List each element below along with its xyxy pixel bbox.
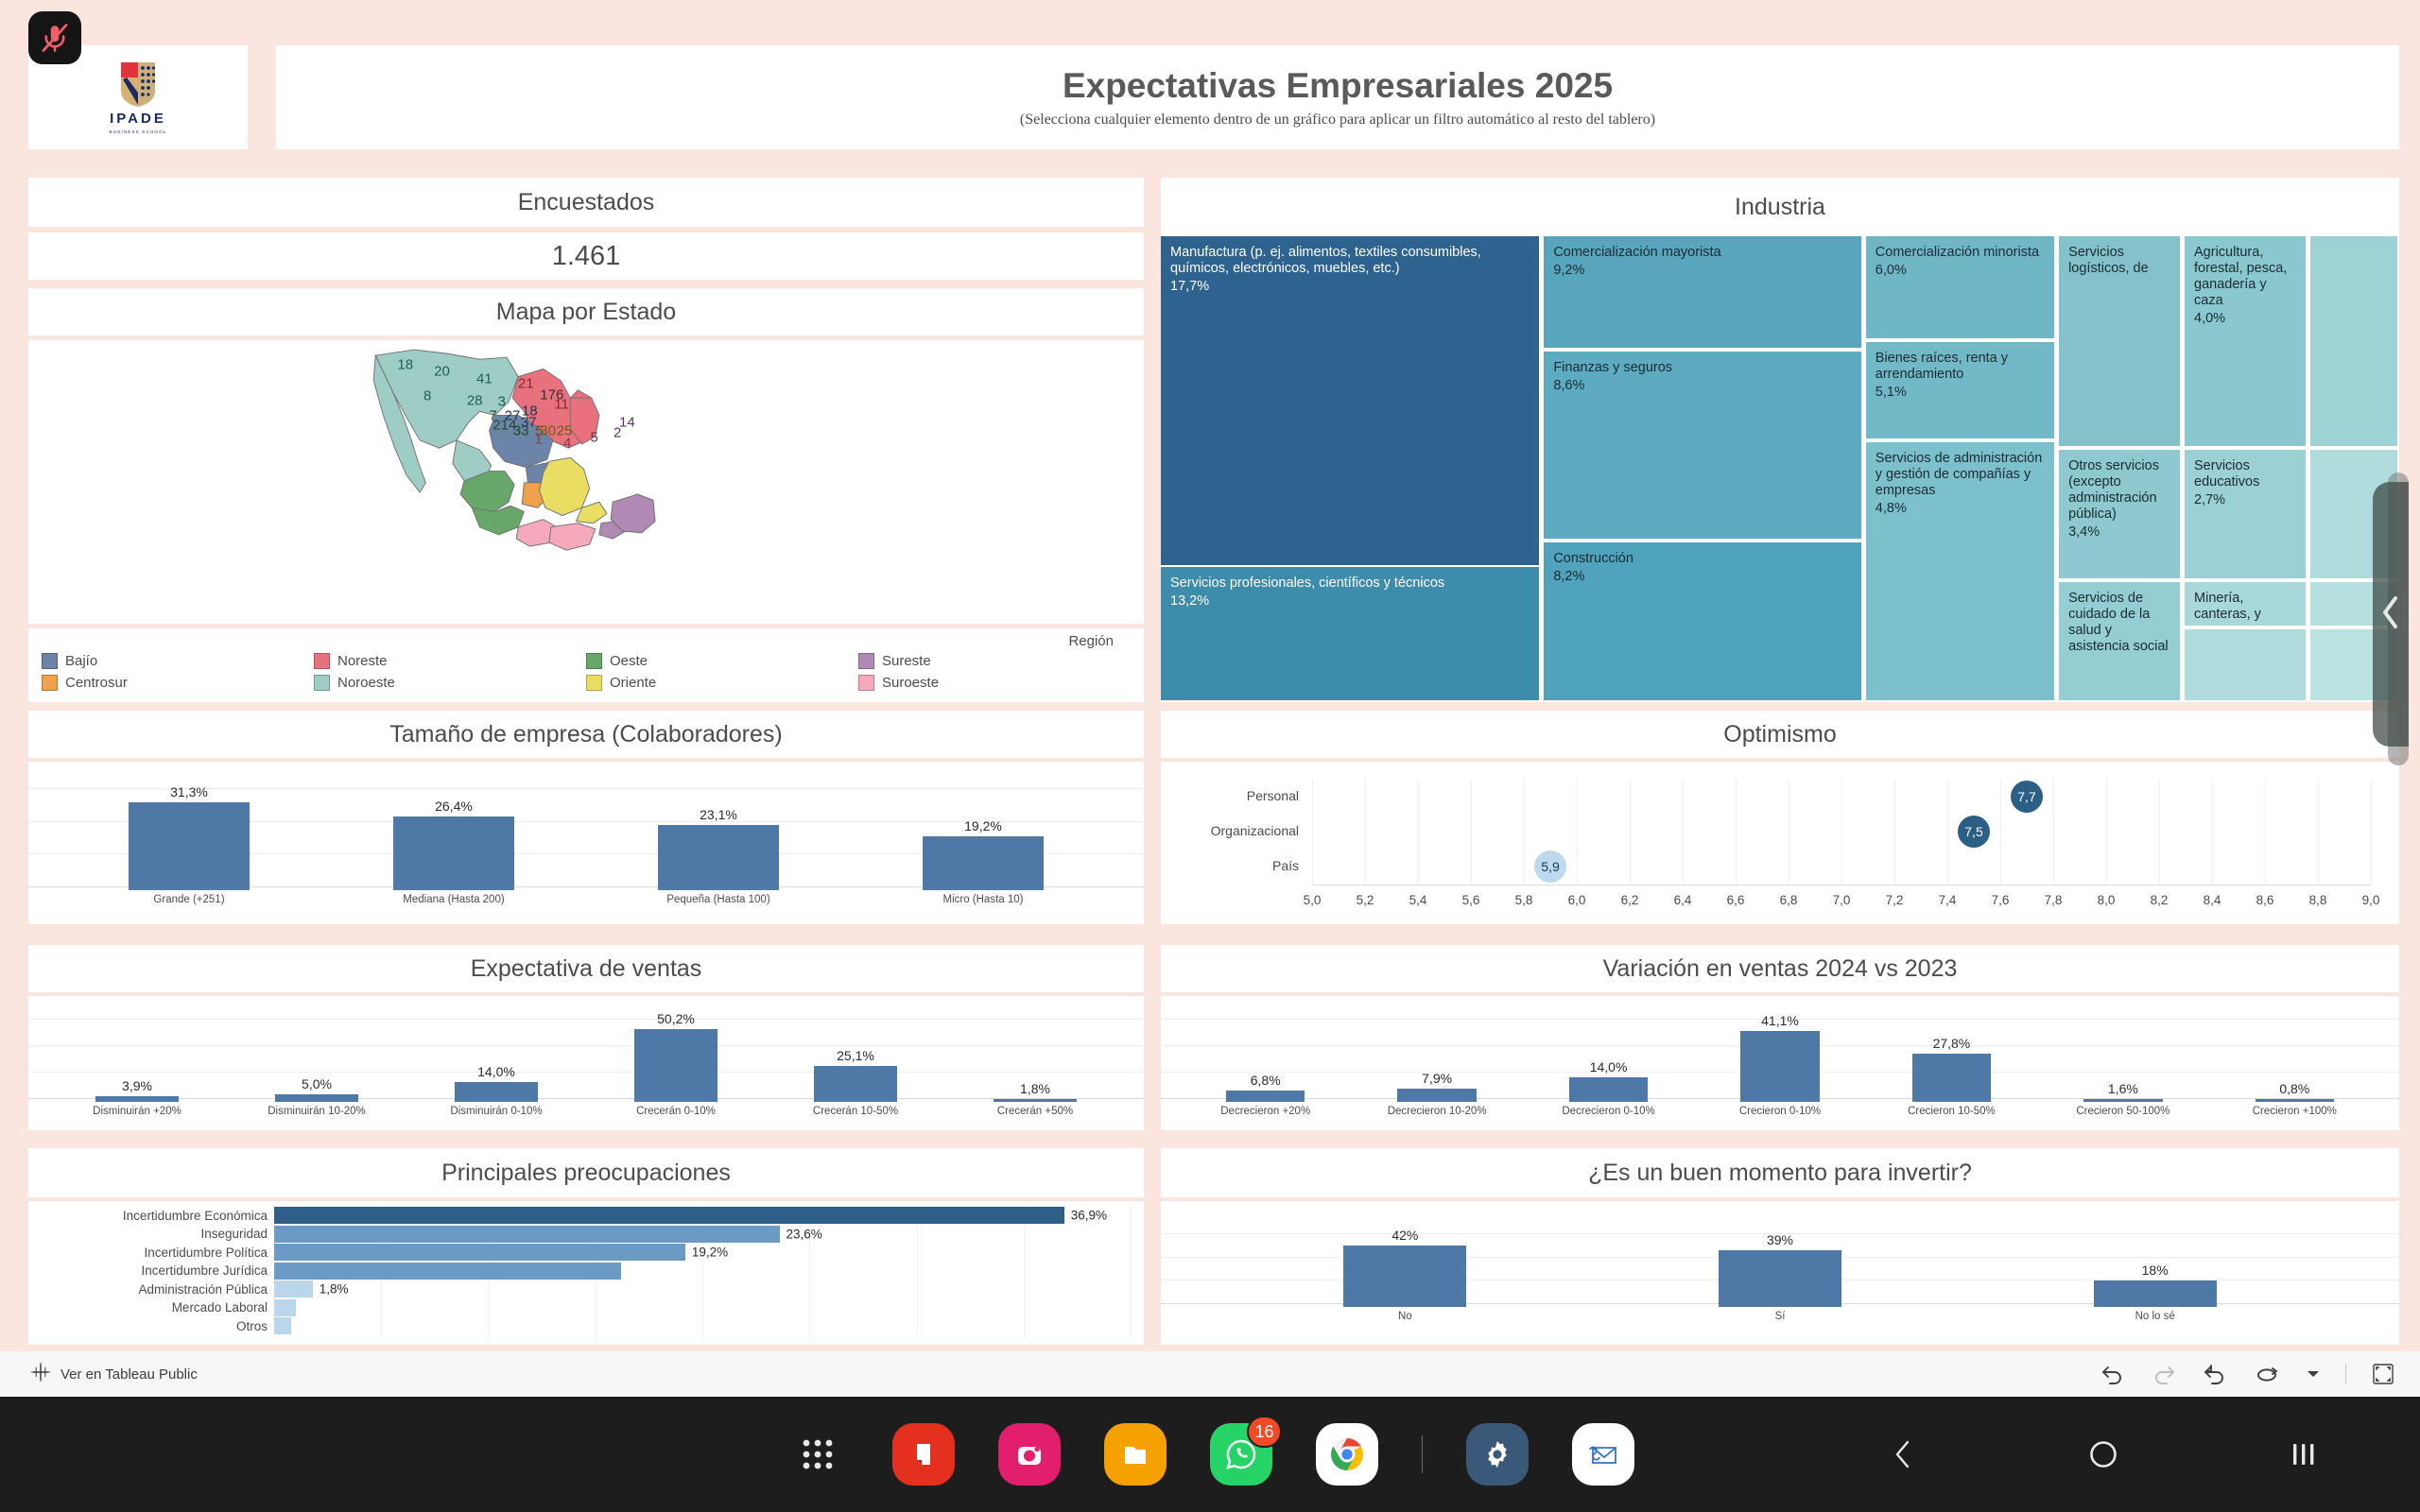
treemap-tile[interactable]: Servicios profesionales, científicos y t…: [1161, 567, 1541, 702]
map-state-value: 33: [513, 422, 529, 438]
treemap-tile[interactable]: Otros servicios (excepto administración …: [2059, 450, 2182, 580]
gridline: [1947, 779, 1948, 885]
legend-label: Oriente: [610, 675, 656, 691]
legend-item-centrosur[interactable]: Centrosur: [42, 675, 314, 691]
treemap-tile[interactable]: Bienes raíces, renta y arrendamiento5,1%: [1866, 342, 2056, 440]
bar-column[interactable]: 7,9%Decrecieron 10-20%: [1397, 1071, 1476, 1117]
gridline: [1630, 779, 1631, 885]
bar-value-label: 19,2%: [964, 818, 1002, 833]
page-title: Expectativas Empresariales 2025: [1063, 66, 1613, 106]
bar-category-label: Pequeña (Hasta 100): [666, 894, 769, 905]
bar-column[interactable]: 39%Sí: [1719, 1232, 1841, 1322]
preocupacion-label: Inseguridad: [28, 1227, 274, 1241]
x-axis-tick: 8,4: [2204, 893, 2221, 907]
optimismo-dot-chart[interactable]: 5,05,25,45,65,86,06,26,46,66,87,07,27,47…: [1161, 762, 2399, 924]
treemap-tile[interactable]: Comercialización mayorista9,2%: [1544, 236, 1862, 350]
treemap-tile-label: Agricultura, forestal, pesca, ganadería …: [2194, 245, 2287, 308]
legend-item-sureste[interactable]: Sureste: [858, 653, 1131, 669]
bar-value-label: 19,2%: [692, 1246, 728, 1260]
preocupacion-row[interactable]: Mercado Laboral: [28, 1299, 1131, 1316]
treemap-tile-value: 9,2%: [1553, 263, 1851, 279]
dock-divider: [1422, 1435, 1423, 1473]
files-app-icon[interactable]: [1104, 1423, 1167, 1486]
legend-item-suroeste[interactable]: Suroeste: [858, 675, 1131, 691]
view-on-tableau-public-link[interactable]: Ver en Tableau Public: [30, 1362, 198, 1386]
mexico-map[interactable]: 1820418283211761118273772143353025145214: [28, 340, 1144, 624]
treemap-tile-small[interactable]: [2310, 236, 2399, 448]
map-state-value: 20: [434, 364, 450, 380]
optimismo-panel-title: Optimismo: [1161, 711, 2399, 758]
bar-column[interactable]: 31,3%Grande (+251): [129, 784, 251, 905]
bar-rect[interactable]: [1397, 1089, 1476, 1102]
gridline: [1471, 779, 1472, 885]
preocupacion-label: Mercado Laboral: [28, 1300, 274, 1314]
x-axis-tick: 8,8: [2309, 893, 2327, 907]
treemap-tile[interactable]: Servicios educativos2,7%: [2185, 450, 2308, 580]
map-state-value: 11: [554, 397, 569, 413]
android-navigation-bar: 16: [0, 1397, 2420, 1512]
preocupacion-label: Incertidumbre Jurídica: [28, 1263, 274, 1278]
x-axis-tick: 6,6: [1727, 893, 1745, 907]
bar-column[interactable]: 19,2%Micro (Hasta 10): [923, 818, 1045, 905]
bar-column[interactable]: 14,0%Disminuirán 0-10%: [455, 1064, 537, 1117]
gridline: [1683, 779, 1684, 885]
map-state-value: 8: [423, 387, 431, 404]
bar-value-label: 50,2%: [657, 1011, 695, 1026]
expectativa-bar-chart[interactable]: 3,9%Disminuirán +20%5,0%Disminuirán 10-2…: [28, 996, 1144, 1130]
treemap-tile-label: Otros servicios (excepto administración …: [2068, 458, 2159, 522]
bar-rect[interactable]: [1719, 1250, 1841, 1307]
treemap-tile[interactable]: Servicios logísticos, de: [2059, 236, 2182, 448]
preocupacion-label: Incertidumbre Económica: [28, 1209, 274, 1223]
reader-app-icon[interactable]: [892, 1423, 955, 1486]
title-card: Expectativas Empresariales 2025 (Selecci…: [276, 45, 2399, 149]
whatsapp-icon[interactable]: 16: [1210, 1423, 1272, 1486]
bar-rect[interactable]: [455, 1082, 537, 1102]
gridline: [2106, 779, 2107, 885]
legend-swatch: [42, 653, 58, 669]
legend-item-noroeste[interactable]: Noroeste: [314, 675, 586, 691]
bar-rect[interactable]: [274, 1207, 1064, 1224]
bar-column[interactable]: 18%No lo sé: [2094, 1263, 2217, 1322]
bar-rect[interactable]: [1569, 1077, 1648, 1102]
bar-rect[interactable]: [275, 1094, 357, 1102]
bar-category-label: Crecieron 50-100%: [2076, 1106, 2169, 1117]
dashboard-screen: IPADE BUSINESS SCHOOL Expectativas Empre…: [0, 0, 2420, 1512]
gridline: [2318, 779, 2319, 885]
x-axis-tick: 6,8: [1780, 893, 1798, 907]
bar-category-label: Crecerán +50%: [997, 1106, 1073, 1117]
x-axis-tick: 5,0: [1304, 893, 1322, 907]
right-edge-strip: [2409, 170, 2420, 1351]
x-axis-tick: 7,4: [1939, 893, 1957, 907]
panel-collapse-handle[interactable]: [2373, 482, 2409, 747]
treemap-tile-label: Manufactura (p. ej. alimentos, textiles …: [1170, 245, 1481, 276]
preocupacion-label: Administración Pública: [28, 1282, 274, 1297]
chevron-down-icon[interactable]: [2306, 1368, 2321, 1380]
x-axis: [28, 1098, 1144, 1099]
treemap-tile-value: 8,6%: [1553, 378, 1851, 394]
gridline: [28, 1072, 1144, 1073]
x-axis-tick: 7,6: [1992, 893, 2010, 907]
x-axis-tick: 6,4: [1674, 893, 1692, 907]
treemap-tile[interactable]: Finanzas y seguros8,6%: [1544, 352, 1862, 541]
variacion-panel-title: Variación en ventas 2024 vs 2023: [1161, 945, 2399, 992]
legend-label: Sureste: [882, 653, 931, 669]
bar-track: [274, 1263, 1131, 1280]
map-state-value: 28: [467, 393, 483, 409]
treemap-tile-label: Comercialización minorista: [1875, 245, 2039, 260]
app-drawer-icon[interactable]: [786, 1423, 849, 1486]
gridline: [1365, 779, 1366, 885]
x-axis-tick: 6,0: [1568, 893, 1586, 907]
bar-value-label: 6,8%: [1251, 1073, 1281, 1088]
bar-category-label: Crecieron 0-10%: [1739, 1106, 1821, 1117]
bar-column[interactable]: 5,0%Disminuirán 10-20%: [275, 1076, 357, 1117]
legend-swatch: [858, 653, 874, 669]
bar-rect[interactable]: [994, 1099, 1076, 1102]
bar-category-label: Decrecieron 0-10%: [1562, 1106, 1654, 1117]
bar-value-label: 23,1%: [700, 807, 737, 822]
ipade-shield-icon: [119, 60, 157, 108]
bar-track: [274, 1317, 1131, 1334]
map-state-value: 18: [397, 357, 413, 373]
preocupacion-row[interactable]: Inseguridad23,6%: [28, 1226, 1131, 1243]
map-state-value: 1: [534, 431, 542, 447]
invertir-bar-chart[interactable]: 42%No39%Sí18%No lo sé: [1161, 1201, 2399, 1345]
treemap-tile[interactable]: Comercialización minorista6,0%: [1866, 236, 2056, 340]
undo-icon[interactable]: [2100, 1363, 2126, 1385]
legend-swatch: [858, 675, 874, 691]
recents-nav-icon[interactable]: [2282, 1433, 2325, 1476]
legend-item-oriente[interactable]: Oriente: [586, 675, 858, 691]
bar-category-label: No: [1398, 1311, 1412, 1322]
treemap-tile[interactable]: Servicios de administración y gestión de…: [1866, 442, 2056, 702]
bar-track: 19,2%: [274, 1244, 1131, 1261]
x-axis-tick: 7,0: [1833, 893, 1851, 907]
revert-icon[interactable]: [2202, 1363, 2228, 1385]
bar-value-label: 41,1%: [1761, 1013, 1799, 1028]
legend-label: Bajío: [65, 653, 97, 669]
x-axis-tick: 5,4: [1409, 893, 1427, 907]
bar-value-label: 36,9%: [1071, 1209, 1107, 1223]
treemap-tile[interactable]: Agricultura, forestal, pesca, ganadería …: [2185, 236, 2308, 448]
bar-column[interactable]: 42%No: [1343, 1228, 1466, 1322]
treemap-tile-value: 3,4%: [2068, 524, 2170, 541]
treemap-tile-label: Finanzas y seguros: [1553, 360, 1672, 375]
bar-rect[interactable]: [1343, 1246, 1466, 1307]
bar-rect[interactable]: [658, 825, 780, 890]
page-subtitle: (Selecciona cualquier elemento dentro de…: [1020, 112, 1655, 129]
bar-category-label: Sí: [1775, 1311, 1786, 1322]
treemap-tile-label: Servicios de administración y gestión de…: [1875, 451, 2043, 498]
preocupacion-row[interactable]: Administración Pública1,8%: [28, 1280, 1131, 1297]
home-nav-icon[interactable]: [2082, 1433, 2125, 1476]
preocupacion-label: Otros: [28, 1319, 274, 1333]
bar-column[interactable]: 1,8%Crecerán +50%: [994, 1081, 1076, 1117]
x-axis-tick: 9,0: [2362, 893, 2380, 907]
treemap-tile-value: 17,7%: [1170, 279, 1530, 295]
bar-value-label: 27,8%: [1933, 1036, 1971, 1051]
treemap-tile-label: Servicios profesionales, científicos y t…: [1170, 576, 1444, 591]
tamano-bar-chart[interactable]: 31,3%Grande (+251)26,4%Mediana (Hasta 20…: [28, 762, 1144, 924]
bar-value-label: 1,8%: [320, 1282, 349, 1297]
bar-column[interactable]: 41,1%Crecieron 0-10%: [1740, 1013, 1819, 1117]
microphone-muted-icon[interactable]: [28, 11, 81, 64]
x-axis: [1312, 885, 2371, 885]
bar-category-label: Micro (Hasta 10): [942, 894, 1023, 905]
treemap-tile-value: 2,7%: [2194, 492, 2296, 508]
map-state-value: 5: [591, 429, 598, 445]
map-legend: Región BajíoNoresteOesteSuresteCentrosur…: [28, 628, 1144, 702]
bar-value-label: 7,9%: [1422, 1071, 1452, 1086]
optimismo-row-label: País: [1161, 858, 1299, 873]
bar-rect[interactable]: [1740, 1031, 1819, 1102]
preocupacion-row[interactable]: Incertidumbre Económica36,9%: [28, 1207, 1131, 1224]
bar-category-label: Crecieron 10-50%: [1908, 1106, 1996, 1117]
back-nav-icon[interactable]: [1881, 1433, 1925, 1476]
bar-column[interactable]: 1,6%Crecieron 50-100%: [2083, 1081, 2162, 1117]
bar-category-label: Decrecieron 10-20%: [1388, 1106, 1487, 1117]
legend-swatch: [314, 675, 330, 691]
gridline: [2159, 779, 2160, 885]
bar-rect[interactable]: [274, 1299, 296, 1316]
optimismo-dot[interactable]: 7,7: [2011, 781, 2043, 813]
preocupaciones-panel-title: Principales preocupaciones: [28, 1148, 1144, 1197]
gridline: [1894, 779, 1895, 885]
gridline: [1131, 1205, 1132, 1341]
gridline: [2212, 779, 2213, 885]
bar-column[interactable]: 6,8%Decrecieron +20%: [1226, 1073, 1305, 1117]
x-axis-tick: 6,2: [1621, 893, 1639, 907]
bar-category-label: Mediana (Hasta 200): [403, 894, 504, 905]
encuestados-value: 1.461: [28, 232, 1144, 280]
bar-category-label: Decrecieron +20%: [1220, 1106, 1310, 1117]
legend-label: Noroeste: [337, 675, 395, 691]
legend-label: Suroeste: [882, 675, 939, 691]
bar-value-label: 26,4%: [435, 799, 473, 814]
treemap-tile-value: 8,2%: [1553, 569, 1851, 585]
bar-rect[interactable]: [274, 1280, 313, 1297]
map-state-value: 30: [540, 422, 556, 438]
preocupacion-label: Incertidumbre Política: [28, 1246, 274, 1260]
legend-label: Oeste: [610, 653, 648, 669]
bar-track: [274, 1299, 1131, 1316]
bar-category-label: Grande (+251): [153, 894, 224, 905]
treemap-tile-value: 4,0%: [2194, 311, 2296, 327]
gridline: [1789, 779, 1789, 885]
legend-heading: Región: [42, 633, 1131, 649]
bar-rect[interactable]: [274, 1244, 685, 1261]
viz-tool-icons: [2100, 1362, 2395, 1386]
optimismo-dot[interactable]: 5,9: [1534, 850, 1566, 883]
gridline: [28, 1045, 1144, 1046]
legend-swatch: [314, 653, 330, 669]
gridline: [1577, 779, 1578, 885]
treemap-tile-value: 5,1%: [1875, 385, 2045, 401]
gridline: [28, 1019, 1144, 1020]
industria-treemap[interactable]: Manufactura (p. ej. alimentos, textiles …: [1161, 236, 2399, 702]
preocupacion-row[interactable]: Incertidumbre Política19,2%: [28, 1244, 1131, 1261]
tableau-icon: [30, 1362, 51, 1386]
bar-category-label: Crecerán 0-10%: [636, 1106, 716, 1117]
bar-column[interactable]: 3,9%Disminuirán +20%: [95, 1078, 178, 1117]
map-state-value: 41: [476, 370, 493, 387]
gridline: [2053, 779, 2054, 885]
treemap-tile-label: Servicios de cuidado de la salud y asist…: [2068, 591, 2169, 654]
bar-category-label: Disminuirán +20%: [93, 1106, 181, 1117]
map-state-value: 21: [518, 375, 534, 391]
preocupacion-row[interactable]: Incertidumbre Jurídica: [28, 1263, 1131, 1280]
whatsapp-badge: 16: [1247, 1416, 1281, 1448]
bar-category-label: Disminuirán 10-20%: [268, 1106, 366, 1117]
bar-rect[interactable]: [274, 1317, 291, 1334]
treemap-tile-small[interactable]: [2185, 629, 2308, 702]
redo-icon[interactable]: [2151, 1363, 2177, 1385]
refresh-icon[interactable]: [2253, 1363, 2281, 1385]
bar-rect[interactable]: [1226, 1091, 1305, 1102]
x-axis-tick: 5,8: [1515, 893, 1533, 907]
bar-value-label: 1,8%: [1020, 1081, 1050, 1096]
bar-column[interactable]: 0,8%Crecieron +100%: [2256, 1081, 2334, 1117]
bar-value-label: 3,9%: [122, 1078, 152, 1093]
bar-value-label: 25,1%: [837, 1048, 874, 1063]
legend-label: Centrosur: [65, 675, 128, 691]
treemap-tile[interactable]: Minería, canteras, y: [2185, 582, 2308, 627]
mapa-panel-title: Mapa por Estado: [28, 288, 1144, 335]
tamano-panel-title: Tamaño de empresa (Colaboradores): [28, 711, 1144, 758]
tableau-viz-toolbar: Ver en Tableau Public: [0, 1351, 2420, 1397]
dashboard-header: IPADE BUSINESS SCHOOL Expectativas Empre…: [0, 0, 2420, 170]
x-axis-tick: 8,2: [2151, 893, 2169, 907]
gridline: [2265, 779, 2266, 885]
bar-category-label: Crecerán 10-50%: [813, 1106, 898, 1117]
gridline: [2000, 779, 2001, 885]
legend-label: Noreste: [337, 653, 388, 669]
camera-app-icon[interactable]: [998, 1423, 1061, 1486]
legend-items[interactable]: BajíoNoresteOesteSuresteCentrosurNoroest…: [42, 653, 1131, 691]
legend-item-noreste[interactable]: Noreste: [314, 653, 586, 669]
bar-column[interactable]: 50,2%Crecerán 0-10%: [634, 1011, 717, 1117]
bar-value-label: 14,0%: [1590, 1059, 1628, 1074]
x-axis-tick: 5,2: [1357, 893, 1374, 907]
bar-value-label: 5,0%: [302, 1076, 332, 1091]
treemap-tile-value: 13,2%: [1170, 593, 1530, 610]
legend-swatch: [586, 675, 602, 691]
map-state-value: 4: [563, 435, 571, 451]
bar-category-label: No lo sé: [2135, 1311, 2175, 1322]
bar-rect[interactable]: [274, 1226, 780, 1243]
bar-category-label: Crecieron +100%: [2253, 1106, 2337, 1117]
bar-rect[interactable]: [923, 836, 1045, 890]
gridline: [1524, 779, 1525, 885]
gridline: [2371, 779, 2372, 885]
android-nav-keys: [1881, 1433, 2325, 1476]
bar-column[interactable]: 14,0%Decrecieron 0-10%: [1569, 1059, 1648, 1117]
map-state-value: 14: [619, 414, 635, 430]
legend-item-oeste[interactable]: Oeste: [586, 653, 858, 669]
gridline: [1736, 779, 1737, 885]
bar-value-label: 23,6%: [786, 1227, 822, 1241]
x-axis-tick: 8,6: [2256, 893, 2274, 907]
mail-icon[interactable]: [1572, 1423, 1634, 1486]
chevron-left-icon: [2378, 593, 2403, 637]
bar-value-label: 39%: [1767, 1232, 1793, 1247]
treemap-tile-label: Construcción: [1553, 551, 1633, 566]
legend-item-bajío[interactable]: Bajío: [42, 653, 314, 669]
bar-rect[interactable]: [1912, 1054, 1991, 1102]
bar-column[interactable]: 25,1%Crecerán 10-50%: [814, 1048, 896, 1117]
encuestados-panel-title: Encuestados: [28, 178, 1144, 227]
toolbar-divider: [2345, 1364, 2346, 1384]
bar-column[interactable]: 26,4%Mediana (Hasta 200): [393, 799, 515, 905]
treemap-tile-label: Comercialización mayorista: [1553, 245, 1720, 260]
bar-category-label: Disminuirán 0-10%: [450, 1106, 542, 1117]
treemap-tile-label: Bienes raíces, renta y arrendamiento: [1875, 351, 2008, 382]
bar-rect[interactable]: [95, 1096, 178, 1102]
treemap-tile-value: 6,0%: [1875, 263, 2045, 279]
expectativa-panel-title: Expectativa de ventas: [28, 945, 1144, 992]
bar-value-label: 42%: [1391, 1228, 1418, 1243]
industria-panel-title: Industria: [1161, 178, 2399, 236]
x-axis-tick: 7,2: [1886, 893, 1904, 907]
bar-value-label: 14,0%: [477, 1064, 515, 1079]
preocupaciones-bar-chart[interactable]: Incertidumbre Económica36,9%Inseguridad2…: [28, 1201, 1144, 1345]
treemap-tile-value: 4,8%: [1875, 501, 2045, 517]
fullscreen-icon[interactable]: [2371, 1362, 2395, 1386]
bar-track: 1,8%: [274, 1280, 1131, 1297]
tableau-link-label: Ver en Tableau Public: [60, 1366, 198, 1383]
bar-value-label: 18%: [2142, 1263, 2169, 1278]
chrome-icon[interactable]: [1316, 1423, 1378, 1486]
gridline: [1418, 779, 1419, 885]
treemap-tile-label: Servicios educativos: [2194, 458, 2259, 490]
treemap-tile[interactable]: Manufactura (p. ej. alimentos, textiles …: [1161, 236, 1541, 567]
optimismo-dot[interactable]: 7,5: [1958, 816, 1990, 848]
bar-value-label: 31,3%: [170, 784, 208, 799]
gridline: [1841, 779, 1842, 885]
treemap-tile[interactable]: Servicios de cuidado de la salud y asist…: [2059, 582, 2182, 702]
treemap-tile-label: Servicios logísticos, de: [2068, 245, 2149, 276]
bar-track: 36,9%: [274, 1207, 1131, 1224]
treemap-tile-label: Minería, canteras, y: [2194, 591, 2261, 622]
bar-column[interactable]: 27,8%Crecieron 10-50%: [1912, 1036, 1991, 1117]
bar-value-label: 1,6%: [2108, 1081, 2138, 1096]
bar-rect[interactable]: [129, 802, 251, 890]
bar-column[interactable]: 23,1%Pequeña (Hasta 100): [658, 807, 780, 905]
bar-value-label: 0,8%: [2279, 1081, 2309, 1096]
x-axis-tick: 8,0: [2098, 893, 2116, 907]
bar-rect[interactable]: [814, 1066, 896, 1102]
bar-rect[interactable]: [2094, 1280, 2217, 1307]
legend-swatch: [42, 675, 58, 691]
variacion-bar-chart[interactable]: 6,8%Decrecieron +20%7,9%Decrecieron 10-2…: [1161, 996, 2399, 1130]
bar-rect[interactable]: [2256, 1099, 2334, 1102]
bar-rect[interactable]: [274, 1263, 621, 1280]
invertir-panel-title: ¿Es un buen momento para invertir?: [1161, 1148, 2399, 1197]
treemap-tile[interactable]: Construcción8,2%: [1544, 542, 1862, 702]
x-axis-tick: 7,8: [2045, 893, 2063, 907]
ipade-logo-text: IPADE: [110, 111, 166, 127]
x-axis-tick: 5,6: [1462, 893, 1480, 907]
bar-rect[interactable]: [2083, 1099, 2162, 1102]
bar-rect[interactable]: [393, 816, 515, 890]
legend-swatch: [586, 653, 602, 669]
preocupacion-row[interactable]: Otros: [28, 1317, 1131, 1334]
bar-rect[interactable]: [634, 1029, 717, 1102]
gridline: [1312, 779, 1313, 885]
settings-icon[interactable]: [1466, 1423, 1529, 1486]
